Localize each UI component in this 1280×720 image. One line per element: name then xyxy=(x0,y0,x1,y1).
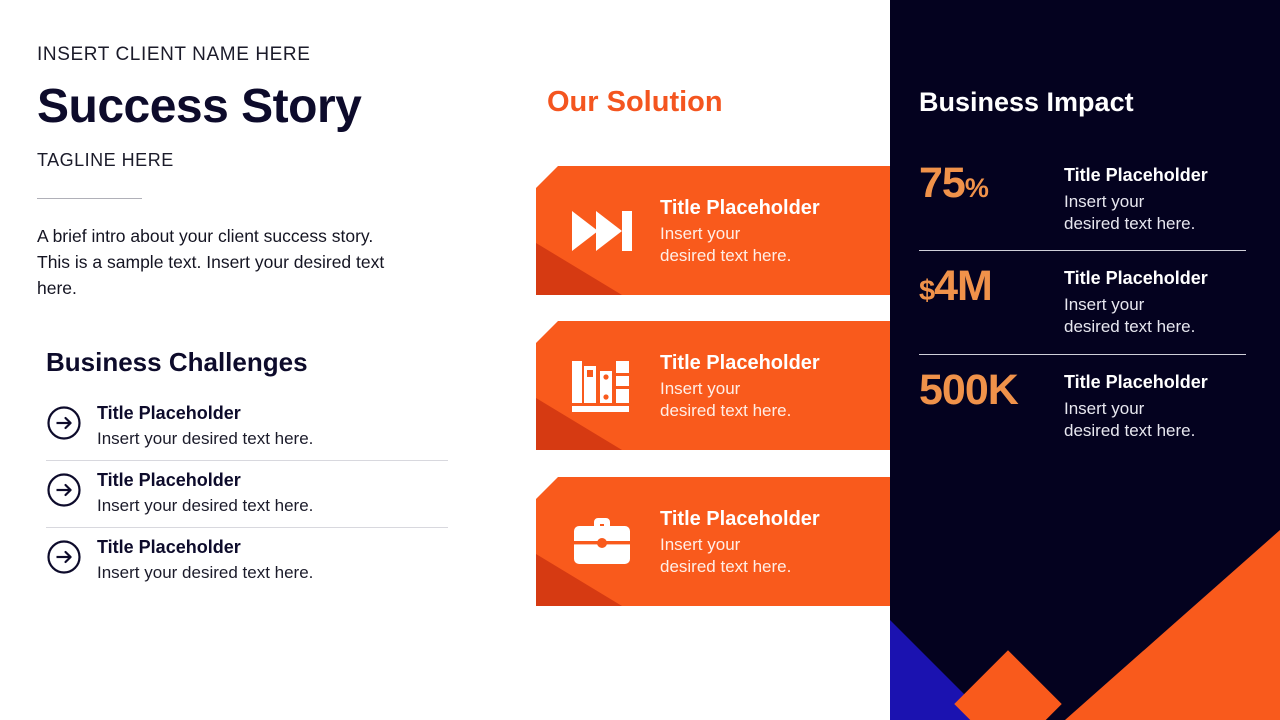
stat-title: Title Placeholder xyxy=(1064,268,1246,290)
solution-card-subtitle-line2: desired text here. xyxy=(660,246,791,265)
solution-card[interactable]: Title Placeholder Insert your desired te… xyxy=(536,166,936,295)
middle-column: Our Solution Title Placeholder Insert yo… xyxy=(536,0,936,720)
stat-value: 75% xyxy=(919,162,1054,205)
slide-canvas: INSERT CLIENT NAME HERE Success Story TA… xyxy=(0,0,1280,720)
client-name-placeholder: INSERT CLIENT NAME HERE xyxy=(37,44,457,67)
tagline-placeholder: TAGLINE HERE xyxy=(37,150,457,171)
list-item-title: Title Placeholder xyxy=(97,537,448,559)
arrow-circle-right-icon xyxy=(46,539,82,580)
stat-item[interactable]: 75% Title Placeholder Insert your desire… xyxy=(919,148,1246,250)
stat-subtitle: Insert your desired text here. xyxy=(1064,294,1246,338)
stat-number: 4M xyxy=(934,262,992,310)
list-item[interactable]: Title Placeholder Insert your desired te… xyxy=(46,394,448,460)
stat-subtitle-line2: desired text here. xyxy=(1064,214,1195,233)
stat-subtitle: Insert your desired text here. xyxy=(1064,398,1246,442)
skip-forward-icon xyxy=(566,205,638,257)
solution-card-subtitle-line1: Insert your xyxy=(660,224,740,243)
stat-item[interactable]: 500K Title Placeholder Insert your desir… xyxy=(919,354,1246,457)
stat-value: 500K xyxy=(919,369,1054,412)
list-item-title: Title Placeholder xyxy=(97,403,448,425)
arrow-circle-right-icon xyxy=(46,472,82,513)
list-item[interactable]: Title Placeholder Insert your desired te… xyxy=(46,460,448,527)
stat-subtitle-line1: Insert your xyxy=(1064,192,1144,211)
stat-subtitle-line2: desired text here. xyxy=(1064,421,1195,440)
orange-diamond-decor xyxy=(954,650,1061,720)
solution-card-subtitle-line2: desired text here. xyxy=(660,401,791,420)
business-impact-panel: Business Impact 75% Title Placeholder In… xyxy=(890,0,1280,720)
stat-subtitle-line1: Insert your xyxy=(1064,399,1144,418)
stat-subtitle-line1: Insert your xyxy=(1064,295,1144,314)
stat-prefix: $ xyxy=(919,275,934,307)
arrow-circle-right-icon xyxy=(46,405,82,446)
stat-title: Title Placeholder xyxy=(1064,165,1246,187)
orange-triangle-decor xyxy=(1065,530,1280,720)
solution-card-subtitle-line2: desired text here. xyxy=(660,557,791,576)
page-title: Success Story xyxy=(37,81,457,133)
list-item-subtitle: Insert your desired text here. xyxy=(97,428,448,449)
business-challenges-heading: Business Challenges xyxy=(46,347,457,378)
intro-paragraph: A brief intro about your client success … xyxy=(37,223,407,301)
books-shelf-icon xyxy=(566,357,638,415)
stat-number: 75 xyxy=(919,159,965,207)
solution-card-subtitle-line1: Insert your xyxy=(660,379,740,398)
business-challenges-list: Title Placeholder Insert your desired te… xyxy=(46,394,448,595)
impact-stats-list: 75% Title Placeholder Insert your desire… xyxy=(919,148,1246,457)
left-column: INSERT CLIENT NAME HERE Success Story TA… xyxy=(37,44,457,594)
stat-item[interactable]: $4M Title Placeholder Insert your desire… xyxy=(919,250,1246,353)
stat-unit: % xyxy=(965,173,988,203)
list-item[interactable]: Title Placeholder Insert your desired te… xyxy=(46,527,448,594)
list-item-subtitle: Insert your desired text here. xyxy=(97,562,448,583)
stat-number: 500K xyxy=(919,366,1018,414)
solution-card[interactable]: Title Placeholder Insert your desired te… xyxy=(536,477,936,606)
list-item-title: Title Placeholder xyxy=(97,470,448,492)
list-item-subtitle: Insert your desired text here. xyxy=(97,495,448,516)
business-impact-heading: Business Impact xyxy=(919,87,1134,118)
stat-subtitle-line2: desired text here. xyxy=(1064,317,1195,336)
briefcase-icon xyxy=(566,516,638,568)
stat-title: Title Placeholder xyxy=(1064,372,1246,394)
stat-value: $4M xyxy=(919,265,1054,308)
solution-card[interactable]: Title Placeholder Insert your desired te… xyxy=(536,321,936,450)
our-solution-heading: Our Solution xyxy=(547,86,723,119)
title-divider xyxy=(37,198,142,199)
stat-subtitle: Insert your desired text here. xyxy=(1064,191,1246,235)
solution-card-subtitle-line1: Insert your xyxy=(660,535,740,554)
